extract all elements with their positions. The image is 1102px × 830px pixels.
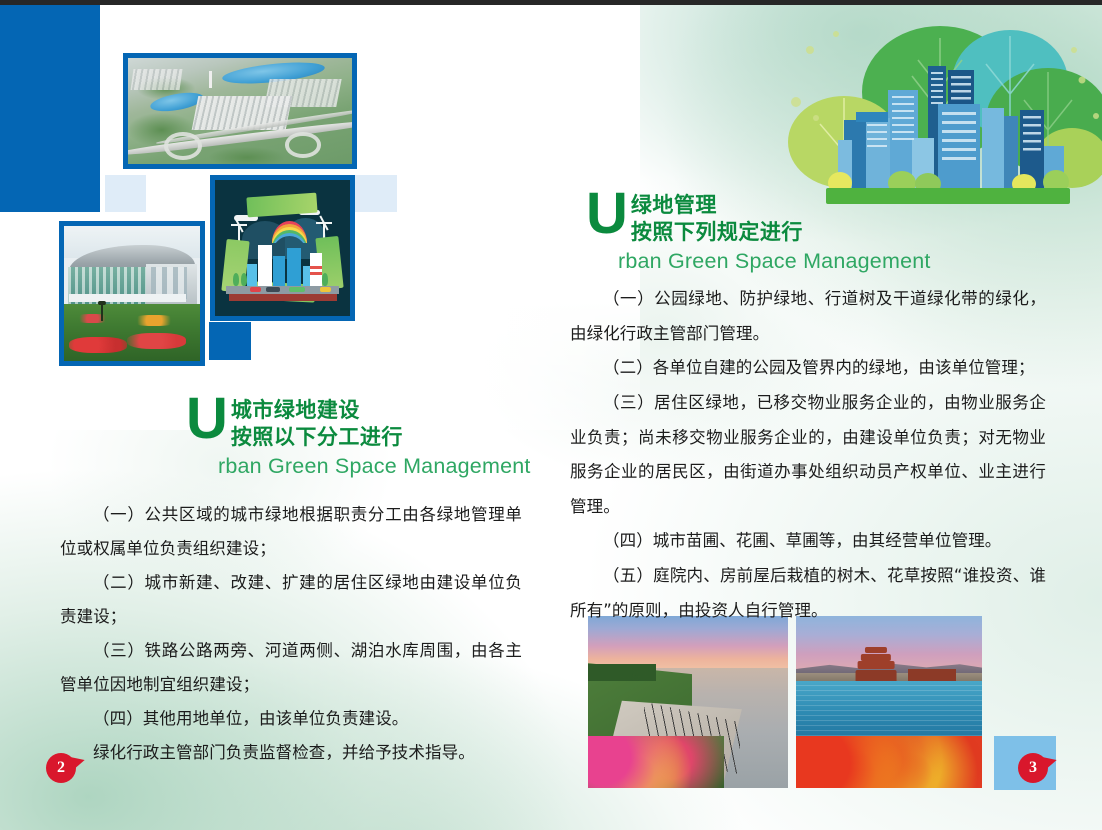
eco-recycle-illustration-content	[215, 180, 350, 316]
right-paragraph-1: （一）公园绿地、防护绿地、行道树及干道绿化带的绿化，由绿化行政主管部门管理。	[570, 282, 1046, 351]
page-number-badge-right: 3	[1018, 753, 1048, 783]
left-paragraph-1: （一）公共区域的城市绿地根据职责分工由各绿地管理单位或权属单位负责组织建设；	[60, 498, 522, 566]
heading-initial-left: U	[186, 395, 227, 443]
heading-en-left: rban Green Space Management	[218, 454, 531, 479]
page-number-badge-left: 2	[46, 753, 76, 783]
left-paragraph-2: （二）城市新建、改建、扩建的居住区绿地由建设单位负责建设；	[60, 566, 522, 634]
aerial-city-photo-content	[128, 58, 352, 164]
brochure-page: U 城市绿地建设 按照以下分工进行 rban Green Space Manag…	[0, 0, 1102, 830]
heading-cn-line1-right: 绿地管理	[631, 192, 803, 219]
right-page-heading: U 绿地管理 按照下列规定进行 rban Green Space Managem…	[586, 190, 931, 274]
heading-cn-line1-left: 城市绿地建设	[231, 397, 403, 424]
vertical-blue-bar	[0, 5, 100, 212]
right-paragraph-4: （四）城市苗圃、花圃、草圃等，由其经营单位管理。	[570, 524, 1046, 559]
left-paragraph-3: （三）铁路公路两旁、河道两侧、湖泊水库周围，由各主管单位因地制宜组织建设；	[60, 634, 522, 702]
left-page-body: （一）公共区域的城市绿地根据职责分工由各绿地管理单位或权属单位负责组织建设； （…	[60, 498, 522, 770]
lake-pagoda-photo	[796, 616, 982, 788]
riverside-sunset-photo	[588, 616, 788, 788]
top-edge-strip	[0, 0, 1102, 5]
light-blue-square-left	[105, 175, 146, 212]
heading-initial-right: U	[586, 190, 627, 238]
left-paragraph-4: （四）其他用地单位，由该单位负责建设。	[60, 702, 522, 736]
left-page-heading: U 城市绿地建设 按照以下分工进行 rban Green Space Manag…	[186, 395, 531, 479]
aerial-city-photo	[123, 53, 357, 169]
right-paragraph-2: （二）各单位自建的公园及管界内的绿地，由该单位管理；	[570, 351, 1046, 386]
right-paragraph-3: （三）居住区绿地，已移交物业服务企业的，由物业服务企业负责；尚未移交物业服务企业…	[570, 386, 1046, 525]
right-paragraph-5: （五）庭院内、房前屋后栽植的树木、花草按照“谁投资、谁所有”的原则，由投资人自行…	[570, 559, 1046, 628]
left-paragraph-5: 绿化行政主管部门负责监督检查，并给予技术指导。	[60, 736, 522, 770]
eco-recycle-illustration	[210, 175, 355, 321]
blue-square	[209, 322, 251, 360]
heading-cn-line2-left: 按照以下分工进行	[231, 424, 403, 451]
modern-building-garden-photo	[59, 221, 205, 366]
modern-building-garden-photo-content	[64, 226, 200, 361]
heading-en-right: rban Green Space Management	[618, 249, 931, 274]
right-page-body: （一）公园绿地、防护绿地、行道树及干道绿化带的绿化，由绿化行政主管部门管理。 （…	[570, 282, 1046, 628]
light-blue-square-right	[355, 175, 397, 212]
heading-cn-line2-right: 按照下列规定进行	[631, 219, 803, 246]
page-number-left: 2	[46, 753, 76, 783]
bottom-photo-pair	[588, 616, 982, 788]
page-number-right: 3	[1018, 753, 1048, 783]
